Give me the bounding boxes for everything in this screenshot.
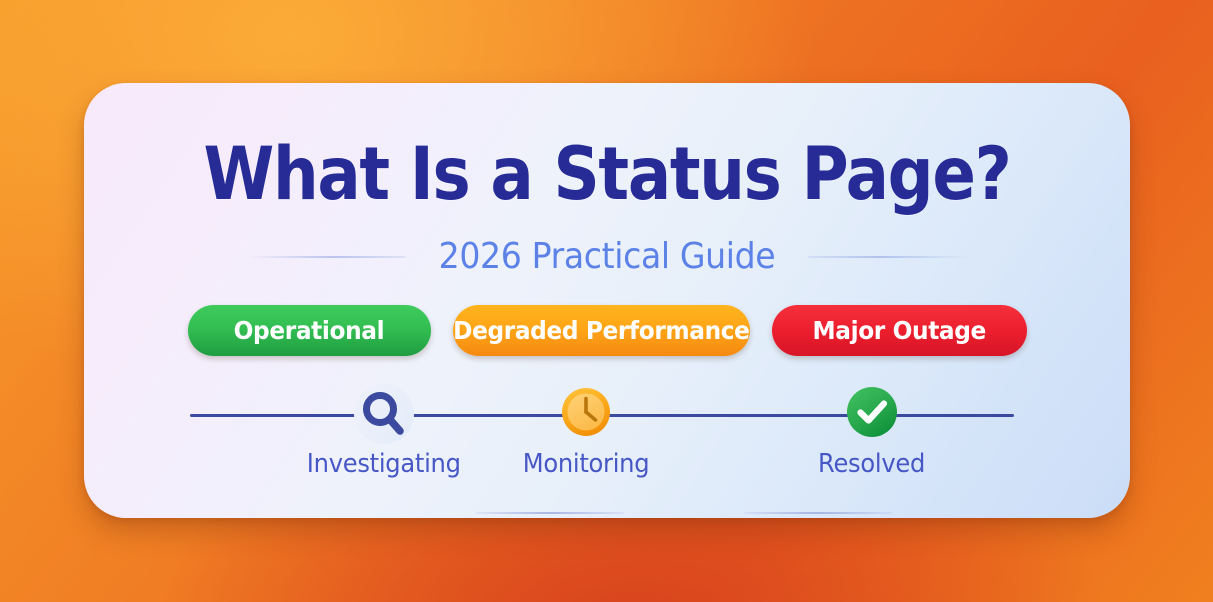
- timeline-stage-resolved[interactable]: Resolved: [782, 381, 962, 479]
- timeline-label-rule-2: [744, 512, 892, 514]
- status-pill-operational-label: Operational: [234, 316, 385, 345]
- status-pill-degraded-label: Degraded Performance: [453, 316, 749, 345]
- timeline-stage-monitoring-icon-wrap: [496, 381, 676, 447]
- status-card: What Is a Status Page? 2026 Practical Gu…: [84, 83, 1130, 518]
- clock-icon: [561, 387, 611, 442]
- subtitle-row: 2026 Practical Guide: [84, 236, 1130, 277]
- magnifier-icon: [354, 384, 414, 444]
- timeline-stage-investigating-label: Investigating: [307, 449, 461, 479]
- subtitle-rule-left: [246, 256, 406, 258]
- incident-timeline: Investigating: [84, 381, 1130, 491]
- page-subtitle: 2026 Practical Guide: [439, 236, 776, 277]
- status-pill-major-outage[interactable]: Major Outage: [772, 305, 1027, 356]
- title-block: What Is a Status Page?: [84, 138, 1130, 211]
- status-pill-major-outage-label: Major Outage: [812, 316, 985, 345]
- background-canvas: What Is a Status Page? 2026 Practical Gu…: [0, 0, 1213, 602]
- timeline-stage-resolved-label: Resolved: [818, 449, 925, 479]
- timeline-stage-monitoring[interactable]: Monitoring: [496, 381, 676, 479]
- timeline-stage-investigating-icon-wrap: [294, 381, 474, 447]
- status-pill-group: Operational Degraded Performance Major O…: [84, 305, 1130, 356]
- timeline-label-rule-1: [476, 512, 624, 514]
- timeline-stage-investigating[interactable]: Investigating: [294, 381, 474, 479]
- status-pill-degraded[interactable]: Degraded Performance: [453, 305, 750, 356]
- status-pill-operational[interactable]: Operational: [188, 305, 431, 356]
- subtitle-rule-right: [808, 256, 968, 258]
- timeline-stage-monitoring-label: Monitoring: [523, 449, 650, 479]
- timeline-stage-resolved-icon-wrap: [782, 381, 962, 447]
- check-circle-icon: [846, 386, 898, 443]
- page-title: What Is a Status Page?: [147, 138, 1067, 211]
